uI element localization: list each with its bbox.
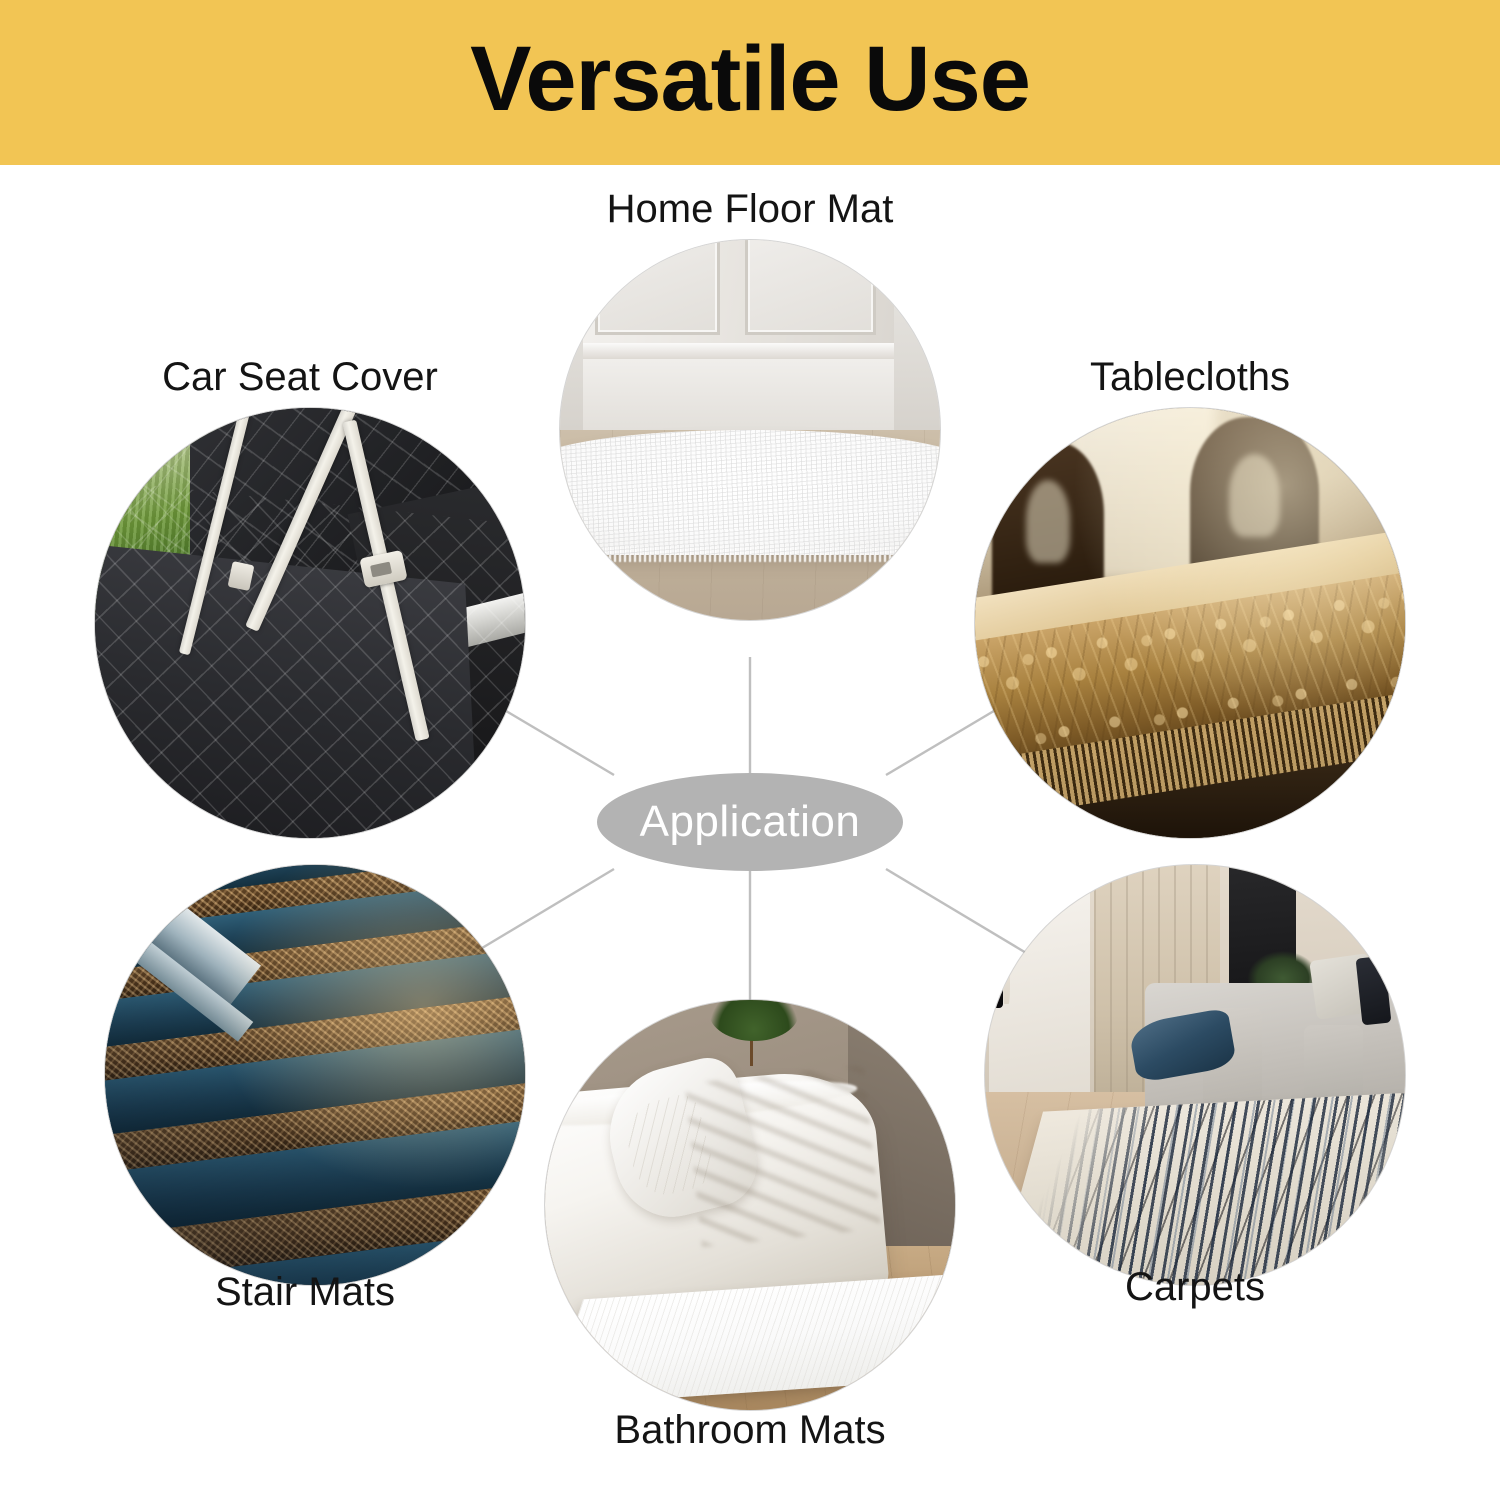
- warm-light-overlay: [975, 408, 1405, 838]
- photo-car-seat-cover[interactable]: [95, 408, 525, 838]
- leaf-shadow-overlay: [685, 1065, 882, 1247]
- label-home-floor-mat: Home Floor Mat: [470, 187, 1030, 232]
- photo-carpets[interactable]: [985, 865, 1405, 1285]
- label-car-seat-cover: Car Seat Cover: [20, 355, 580, 400]
- door-panel-right: [745, 240, 876, 335]
- mat-door: [583, 240, 895, 430]
- photo-tablecloths[interactable]: [975, 408, 1405, 838]
- door-rail: [583, 343, 895, 359]
- page-title: Versatile Use: [470, 33, 1030, 125]
- patterned-area-rug: [988, 1089, 1405, 1285]
- door-lower-panel: [583, 359, 895, 430]
- quilt-pattern-base: [95, 465, 525, 838]
- center-application-node[interactable]: Application: [597, 773, 903, 871]
- mat-white-shag-rug: [560, 430, 940, 555]
- fireplace-opening: [985, 921, 1003, 1008]
- sunlight-overlay: [105, 865, 525, 1285]
- label-tablecloths: Tablecloths: [910, 355, 1470, 400]
- application-diagram: Home Floor Mat: [0, 165, 1500, 1500]
- label-carpets: Carpets: [915, 1265, 1475, 1310]
- photo-home-floor-mat[interactable]: [560, 240, 940, 620]
- car-seat-base: [95, 540, 482, 838]
- photo-stair-mats[interactable]: [105, 865, 525, 1285]
- infographic-page: Versatile Use Home Floor Mat: [0, 0, 1500, 1500]
- label-bathroom-mats: Bathroom Mats: [470, 1408, 1030, 1453]
- door-panel-left: [595, 240, 720, 335]
- fireplace-ornament: [1003, 904, 1010, 1004]
- center-node-label: Application: [640, 797, 861, 847]
- mat-rug-fringe: [560, 547, 940, 562]
- label-stair-mats: Stair Mats: [25, 1270, 585, 1315]
- rug-pattern: [988, 1089, 1405, 1285]
- fireplace-mantel: [989, 882, 1090, 1100]
- photo-bathroom-mats[interactable]: [545, 1000, 955, 1410]
- header-band: Versatile Use: [0, 0, 1500, 165]
